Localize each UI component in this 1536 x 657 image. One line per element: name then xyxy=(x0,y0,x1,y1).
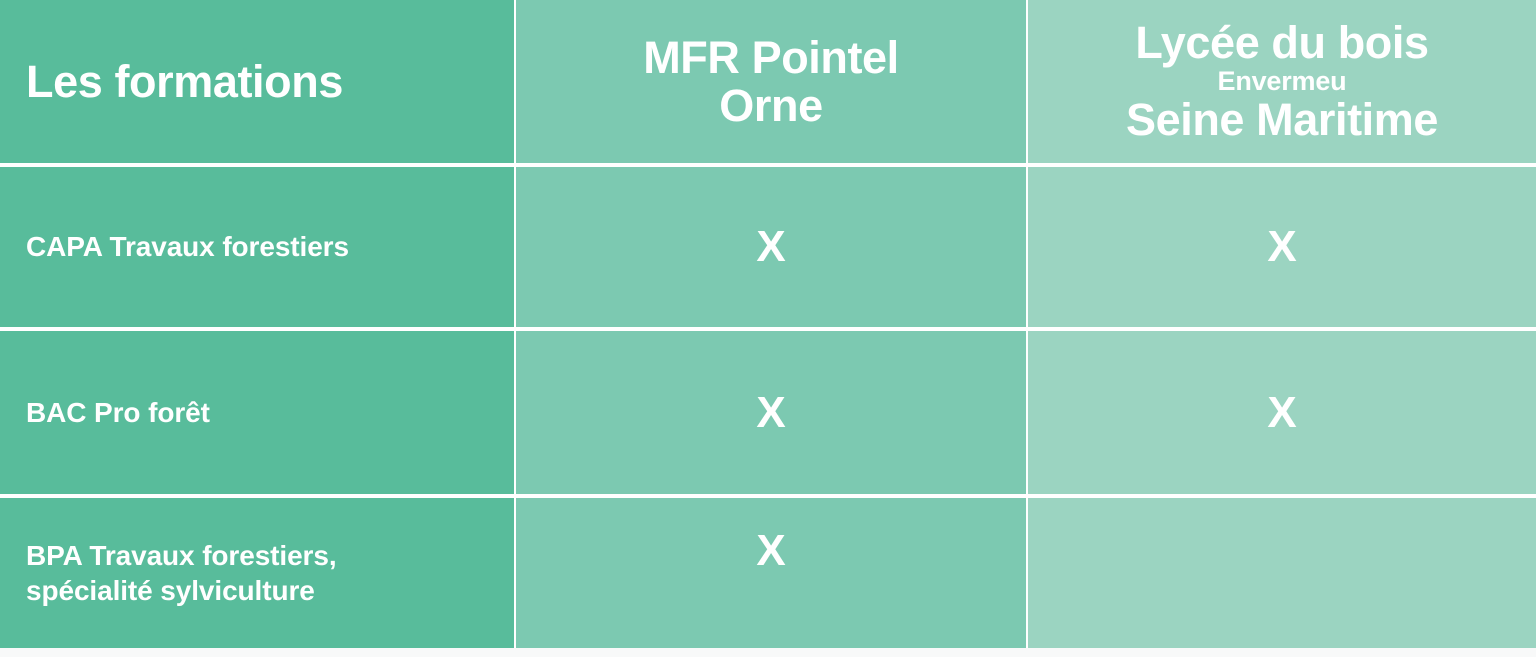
row-label-bac-pro: BAC Pro forêt xyxy=(26,395,210,430)
x-mark-icon: X xyxy=(756,225,785,269)
header-cell-formations: Les formations xyxy=(0,0,514,163)
header-cell-lycee-du-bois: Lycée du bois Envermeu Seine Maritime xyxy=(1028,0,1536,163)
table-row: BPA Travaux forestiers, spécialité sylvi… xyxy=(0,498,514,648)
x-mark-icon: X xyxy=(1267,225,1296,269)
cell-lycee-capa: X xyxy=(1028,167,1536,327)
header-title-mfr-pointel: MFR Pointel xyxy=(643,34,899,82)
x-mark-icon: X xyxy=(1267,391,1296,435)
header-title-lycee-du-bois: Lycée du bois xyxy=(1135,19,1428,67)
header-subtitle-envermeu: Envermeu xyxy=(1218,67,1347,96)
header-title-formations: Les formations xyxy=(26,58,343,106)
cell-mfr-bpa: X xyxy=(516,498,1026,648)
row-label-bpa-line1: BPA Travaux forestiers, xyxy=(26,540,337,571)
row-label-bpa-line2: spécialité sylviculture xyxy=(26,575,315,606)
cell-lycee-bac-pro: X xyxy=(1028,331,1536,494)
header-subtitle-orne: Orne xyxy=(719,82,822,130)
formations-comparison-table: Les formations MFR Pointel Orne Lycée du… xyxy=(0,0,1536,657)
cell-lycee-bpa xyxy=(1028,498,1536,648)
row-label-bpa: BPA Travaux forestiers, spécialité sylvi… xyxy=(26,538,337,609)
cell-mfr-capa: X xyxy=(516,167,1026,327)
table-grid: Les formations MFR Pointel Orne Lycée du… xyxy=(0,0,1536,657)
cell-mfr-bac-pro: X xyxy=(516,331,1026,494)
row-label-capa: CAPA Travaux forestiers xyxy=(26,229,349,264)
x-mark-icon: X xyxy=(756,391,785,435)
header-cell-mfr-pointel: MFR Pointel Orne xyxy=(516,0,1026,163)
header-subtitle-seine-maritime: Seine Maritime xyxy=(1126,96,1438,144)
x-mark-icon: X xyxy=(756,529,785,573)
table-row: CAPA Travaux forestiers xyxy=(0,167,514,327)
table-row: BAC Pro forêt xyxy=(0,331,514,494)
bottom-strip xyxy=(0,648,1536,657)
